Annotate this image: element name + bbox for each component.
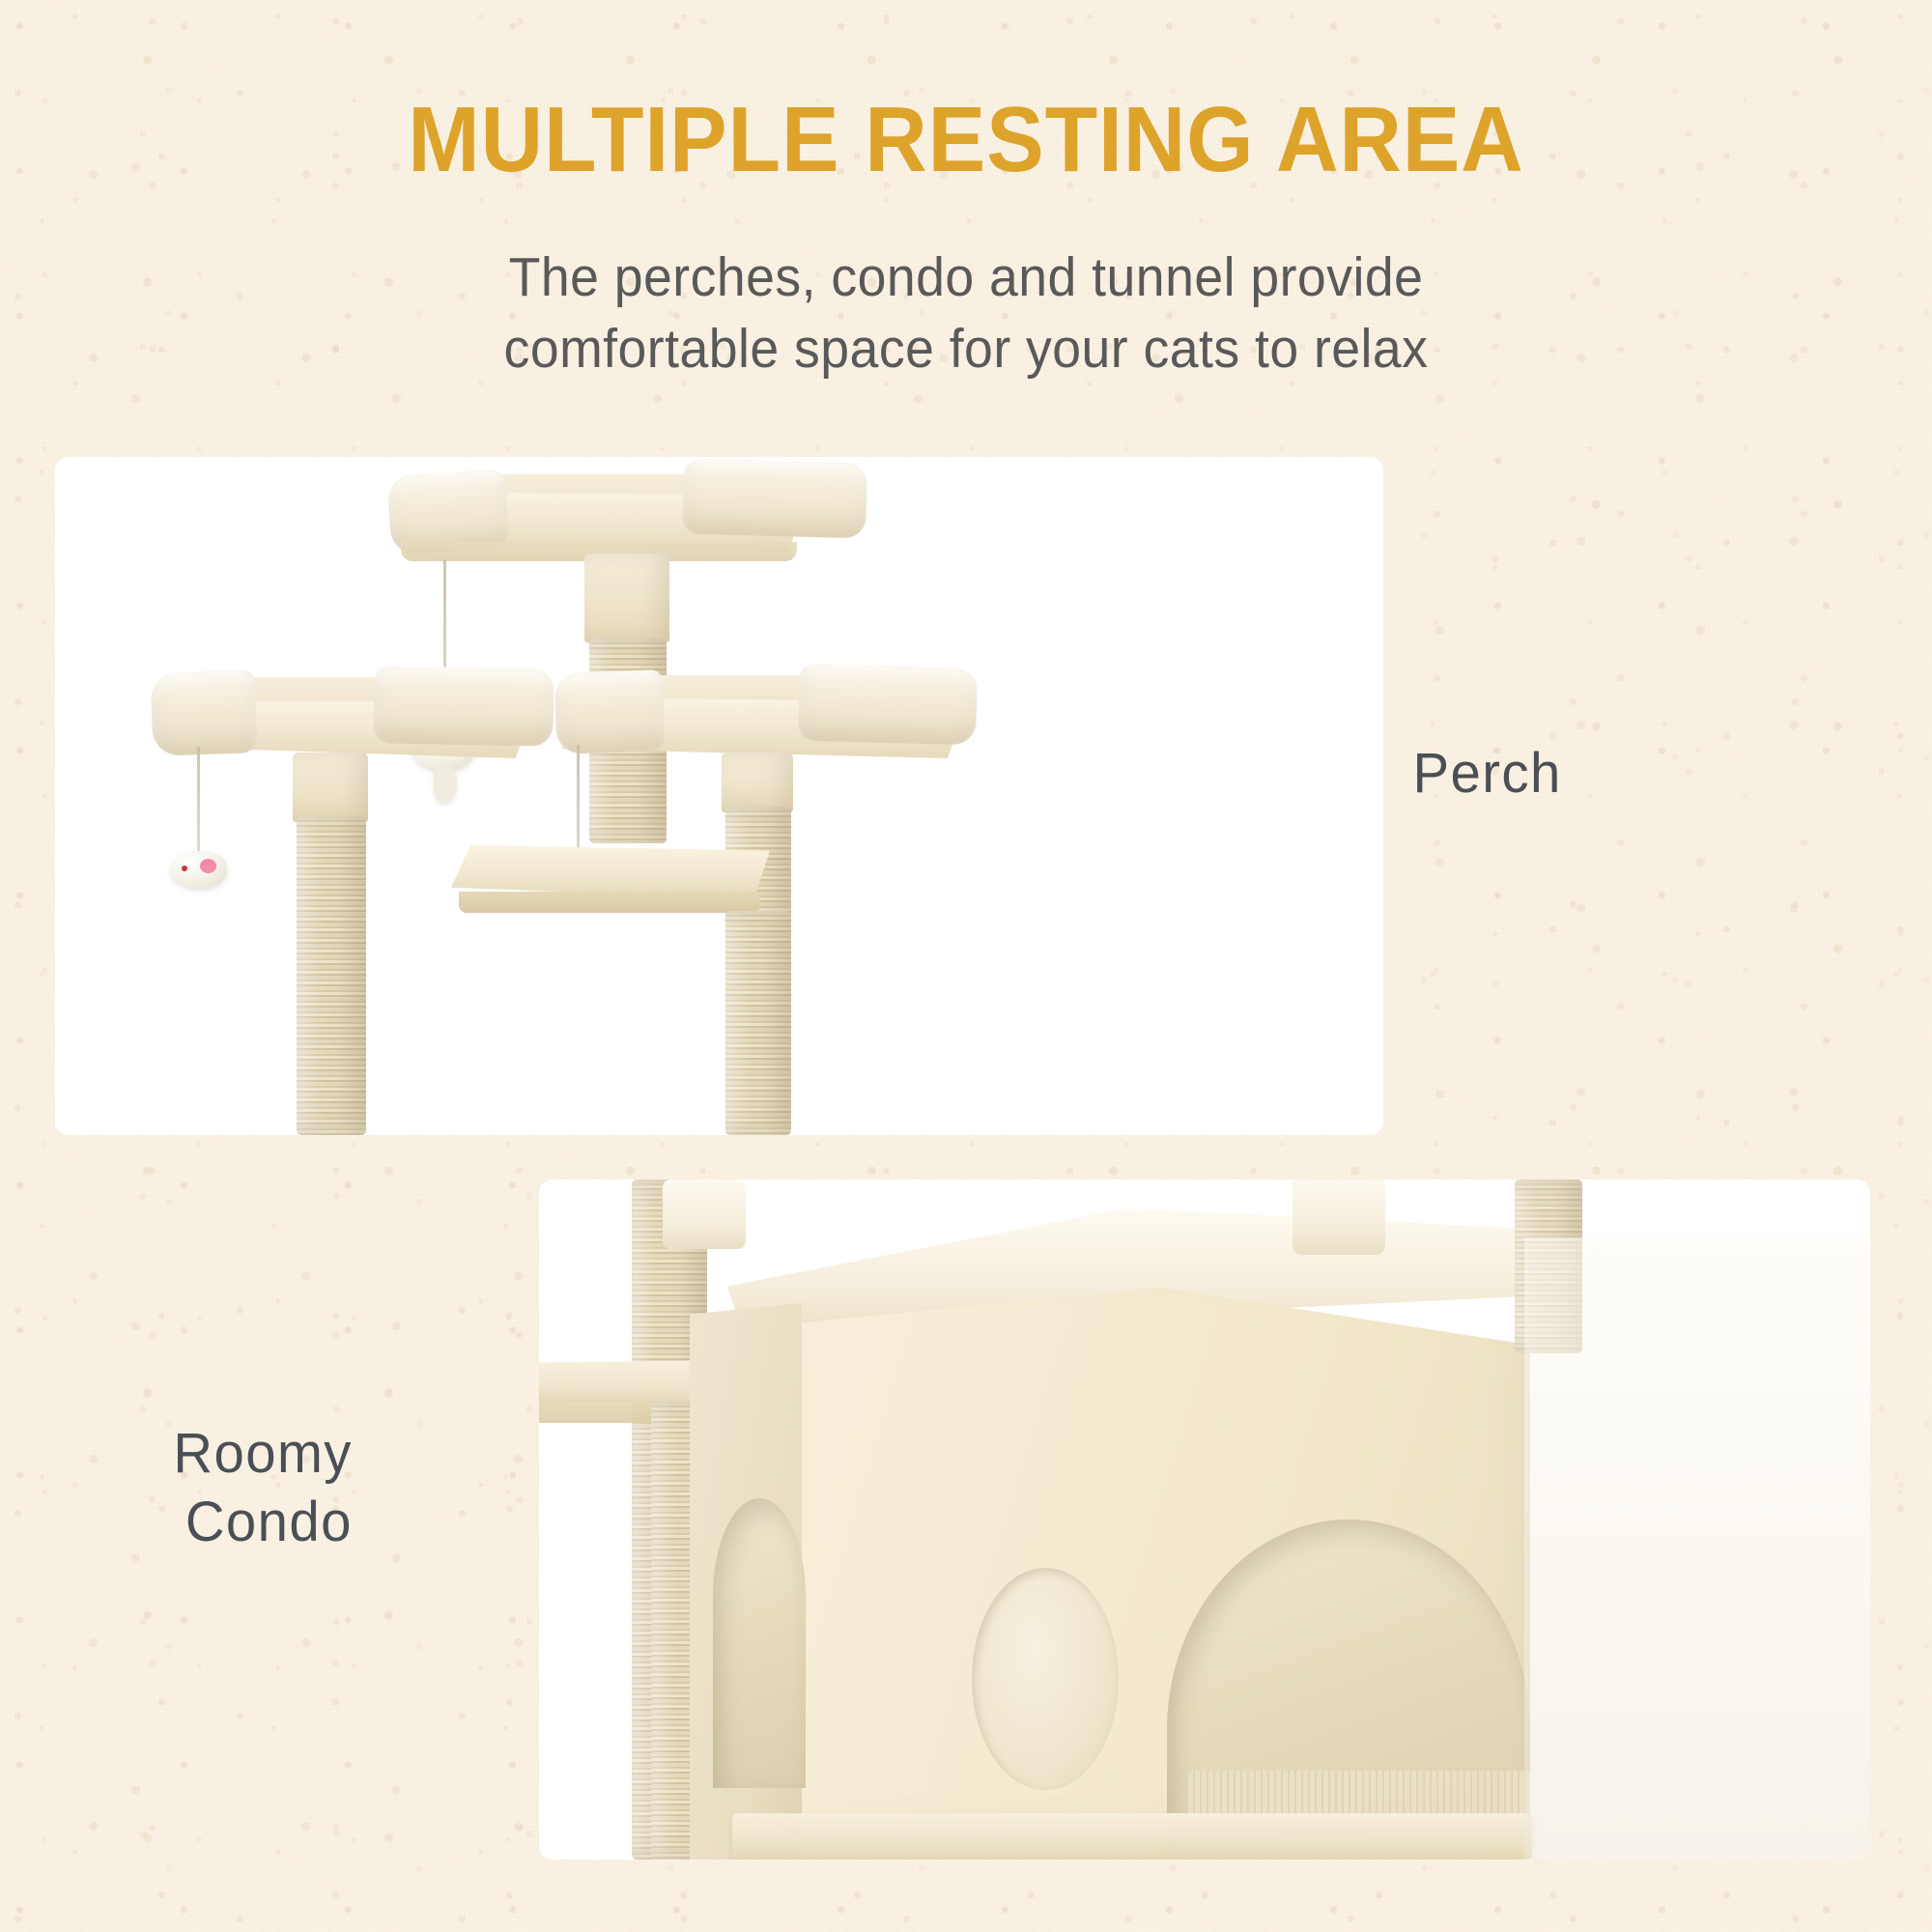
left-toy-mouse-eye: [182, 866, 187, 871]
left-perch-left-bumper: [151, 669, 258, 756]
top-perch-right-bumper: [682, 459, 867, 539]
left-toy-mouse: [171, 851, 227, 888]
condo-peek-hole: [972, 1568, 1119, 1790]
left-scratching-post: [297, 816, 366, 1135]
top-toy-mouse-tail: [434, 762, 457, 803]
right-post-collar: [722, 753, 793, 812]
left-toy-string: [197, 747, 200, 855]
condo-base-ledge: [732, 1813, 1532, 1860]
page-subtitle: The perches, condo and tunnel provide co…: [58, 241, 1874, 384]
left-toy-mouse-ear: [200, 859, 216, 873]
subtitle-line-1: The perches, condo and tunnel provide: [58, 241, 1874, 313]
page-title: MULTIPLE RESTING AREA: [68, 92, 1864, 189]
condo-side-opening: [713, 1498, 806, 1788]
condo-roof-post-right: [1293, 1179, 1385, 1255]
condo-right-backdrop: [1524, 1237, 1870, 1860]
left-post-collar: [293, 753, 368, 822]
callout-perch: Perch: [1413, 740, 1882, 809]
left-perch-right-bumper: [373, 666, 554, 746]
callout-condo: Roomy Condo: [34, 1420, 353, 1557]
perch-photo-panel: [55, 457, 1383, 1135]
right-perch-left-bumper: [554, 669, 666, 754]
subtitle-line-2: comfortable space for your cats to relax: [58, 313, 1874, 384]
base-scratching-post: [725, 911, 791, 1135]
right-perch-right-bumper: [798, 664, 978, 746]
top-post-collar: [584, 554, 669, 642]
callout-condo-line-2: Condo: [34, 1489, 353, 1557]
condo-upper-column: [663, 1179, 746, 1249]
base-platform-underside: [459, 892, 760, 913]
callout-condo-line-1: Roomy: [34, 1420, 353, 1489]
condo-photo-panel: [539, 1179, 1870, 1860]
